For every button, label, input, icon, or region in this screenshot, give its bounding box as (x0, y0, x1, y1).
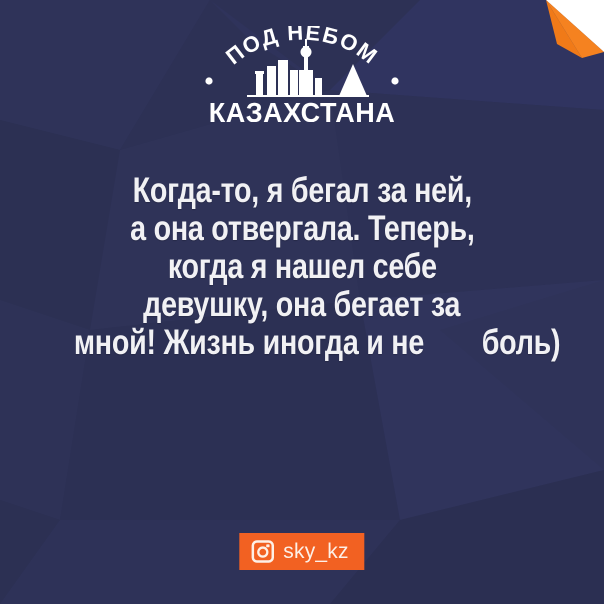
instagram-badge[interactable]: sky_kz (239, 533, 364, 570)
quote-line: девушку, она бегает за (144, 286, 461, 324)
page-fold-corner (524, 0, 604, 62)
logo-arc-text: ПОД НЕБОМ (221, 26, 383, 69)
quote-line: а она отвергала. Теперь, (130, 210, 474, 248)
quote-line: Когда-то, я бегал за ней, (132, 172, 471, 210)
instagram-handle: sky_kz (283, 540, 348, 563)
quote-text: Когда-то, я бегал за ней, а она отвергал… (0, 172, 604, 362)
meme-card: ПОД НЕБОМ КАЗАХСТАНА Когда-то, я бегал з (0, 0, 604, 604)
logo-dot-left (205, 77, 212, 84)
quote-line: мной! Жизнь иногда и не (74, 324, 424, 362)
quote-line: когда я нашел себе (168, 248, 437, 286)
brand-logo: ПОД НЕБОМ КАЗАХСТАНА (187, 26, 417, 122)
quote-line: боль) (481, 324, 560, 362)
instagram-icon (251, 540, 274, 563)
logo-wordmark: КАЗАХСТАНА (209, 97, 395, 122)
logo-dot-right (391, 77, 398, 84)
